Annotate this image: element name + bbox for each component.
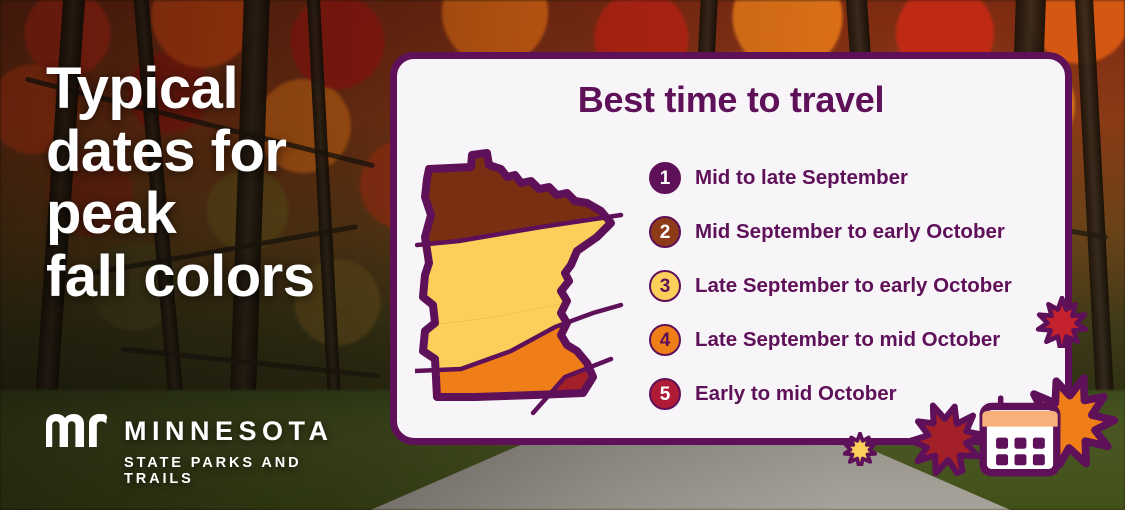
best-time-card: Best time to travel	[390, 52, 1072, 445]
mn-state-parks-logo: MINNESOTA STATE PARKS AND TRAILS	[46, 414, 376, 487]
headline-line-3: peak	[46, 183, 376, 246]
legend-label-2: Mid September to early October	[695, 220, 1005, 244]
legend-badge-number: 2	[660, 223, 671, 242]
legend-list: 1 Mid to late September 2 Mid September …	[649, 151, 1047, 421]
legend-item-4[interactable]: 4 Late September to mid October	[649, 313, 1047, 367]
infographic-stage: Typical dates for peak fall colors MINNE…	[0, 0, 1125, 510]
legend-badge-number: 4	[660, 331, 671, 350]
minnesota-map-svg	[415, 145, 625, 417]
legend-item-1[interactable]: 1 Mid to late September	[649, 151, 1047, 205]
mn-mark-icon	[46, 414, 108, 448]
legend-badge-5: 5	[649, 378, 681, 410]
legend-label-3: Late September to early October	[695, 274, 1012, 298]
maple-leaf-icon	[843, 432, 877, 466]
legend-label-4: Late September to mid October	[695, 328, 1000, 352]
headline-line-4: fall colors	[46, 246, 376, 309]
legend-label-1: Mid to late September	[695, 166, 908, 190]
page-title: Typical dates for peak fall colors	[46, 58, 376, 309]
legend-badge-number: 3	[660, 277, 671, 296]
legend-item-2[interactable]: 2 Mid September to early October	[649, 205, 1047, 259]
legend-label-5: Early to mid October	[695, 382, 897, 406]
maple-leaf-icon	[908, 400, 984, 476]
legend-item-3[interactable]: 3 Late September to early October	[649, 259, 1047, 313]
legend-badge-2: 2	[649, 216, 681, 248]
minnesota-map	[415, 145, 625, 417]
legend-badge-1: 1	[649, 162, 681, 194]
maple-leaf-icon	[1036, 296, 1088, 348]
legend-badge-4: 4	[649, 324, 681, 356]
legend-badge-3: 3	[649, 270, 681, 302]
card-title: Best time to travel	[397, 79, 1065, 121]
headline-line-1: Typical	[46, 58, 376, 121]
legend-badge-number: 1	[660, 169, 671, 188]
logo-wordmark: MINNESOTA	[124, 416, 334, 447]
logo-tagline: STATE PARKS AND TRAILS	[124, 455, 376, 487]
calendar-icon	[974, 388, 1066, 480]
headline-line-2: dates for	[46, 121, 376, 184]
legend-badge-number: 5	[660, 385, 671, 404]
